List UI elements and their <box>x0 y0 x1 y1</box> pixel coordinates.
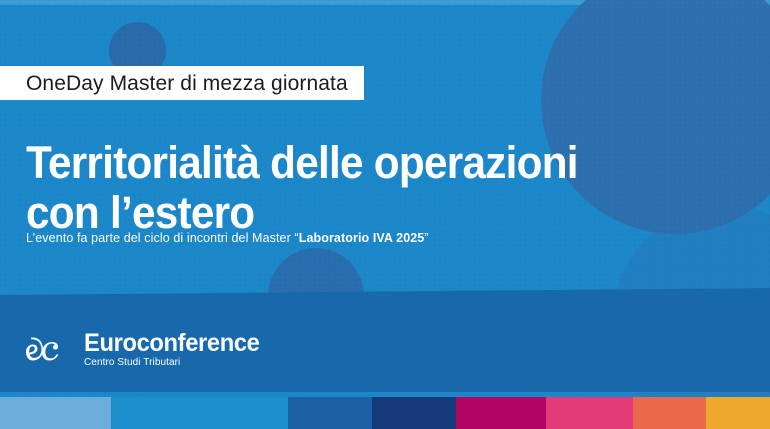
eyebrow-label: OneDay Master di mezza giornata <box>26 73 348 94</box>
color-bar-swatch-navy-blue <box>372 397 456 429</box>
subtitle-prefix: L’evento fa parte del ciclo di incontri … <box>26 231 299 245</box>
color-bar-swatch-amber <box>706 397 770 429</box>
subtitle-emphasis: Laboratorio IVA 2025 <box>299 231 425 245</box>
color-bar-swatch-magenta <box>456 397 546 429</box>
brand-logo: Euroconference Centro Studi Tributari <box>26 330 269 369</box>
color-bar-swatch-pink <box>546 397 633 429</box>
color-bar-swatch-sky-blue <box>111 397 288 429</box>
brand-name: Euroconference <box>84 330 259 356</box>
color-bar <box>0 397 770 429</box>
eyebrow-badge: OneDay Master di mezza giornata <box>0 66 364 100</box>
event-banner: OneDay Master di mezza giornata Territor… <box>0 0 770 429</box>
subtitle-suffix: ” <box>424 231 428 245</box>
ec-monogram-icon <box>26 333 75 366</box>
color-bar-swatch-medium-blue <box>288 397 372 429</box>
brand-logo-text: Euroconference Centro Studi Tributari <box>84 330 269 369</box>
subtitle: L’evento fa parte del ciclo di incontri … <box>26 230 429 246</box>
color-bar-swatch-orange <box>633 397 706 429</box>
brand-tagline: Centro Studi Tributari <box>84 356 259 369</box>
page-title: Territorialità delle operazioni con l’es… <box>26 138 684 238</box>
color-bar-swatch-light-blue <box>0 397 111 429</box>
